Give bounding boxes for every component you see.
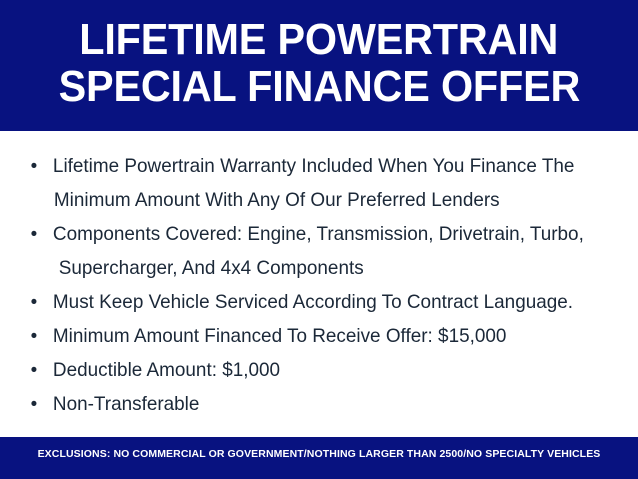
list-item: • Minimum Amount Financed To Receive Off… <box>18 319 602 353</box>
list-item-text: Must Keep Vehicle Serviced According To … <box>53 285 602 319</box>
list-item: • Non-Transferable <box>18 387 602 421</box>
promotional-slide: LIFETIME POWERTRAIN SPECIAL FINANCE OFFE… <box>0 0 638 479</box>
footer-banner: EXCLUSIONS: NO COMMERCIAL OR GOVERNMENT/… <box>0 437 638 479</box>
bullet-point-icon: • <box>31 149 38 183</box>
offer-bullet-list: • Lifetime Powertrain Warranty Included … <box>18 149 620 421</box>
page-title-line-2: SPECIAL FINANCE OFFER <box>58 63 580 110</box>
list-item-text: Components Covered: Engine, Transmission… <box>53 217 602 251</box>
page-title-line-1: LIFETIME POWERTRAIN <box>80 16 559 63</box>
offer-details-section: • Lifetime Powertrain Warranty Included … <box>0 131 638 437</box>
list-item: • Must Keep Vehicle Serviced According T… <box>18 285 602 319</box>
list-item: • Deductible Amount: $1,000 <box>18 353 602 387</box>
list-item-text: Minimum Amount Financed To Receive Offer… <box>53 319 602 353</box>
bullet-point-icon: • <box>31 353 38 387</box>
list-item-text: Non-Transferable <box>53 387 602 421</box>
list-item-text-continued: Minimum Amount With Any Of Our Preferred… <box>53 183 602 217</box>
list-item-text: Lifetime Powertrain Warranty Included Wh… <box>53 149 602 183</box>
bullet-point-icon: • <box>31 217 38 251</box>
list-item: • Lifetime Powertrain Warranty Included … <box>18 149 602 217</box>
bullet-point-icon: • <box>31 319 38 353</box>
bullet-point-icon: • <box>31 285 38 319</box>
header-banner: LIFETIME POWERTRAIN SPECIAL FINANCE OFFE… <box>0 0 638 131</box>
list-item: • Components Covered: Engine, Transmissi… <box>18 217 602 285</box>
list-item-text-continued: Supercharger, And 4x4 Components <box>53 251 602 285</box>
exclusions-disclaimer: EXCLUSIONS: NO COMMERCIAL OR GOVERNMENT/… <box>38 447 601 461</box>
list-item-text: Deductible Amount: $1,000 <box>53 353 602 387</box>
bullet-point-icon: • <box>31 387 38 421</box>
